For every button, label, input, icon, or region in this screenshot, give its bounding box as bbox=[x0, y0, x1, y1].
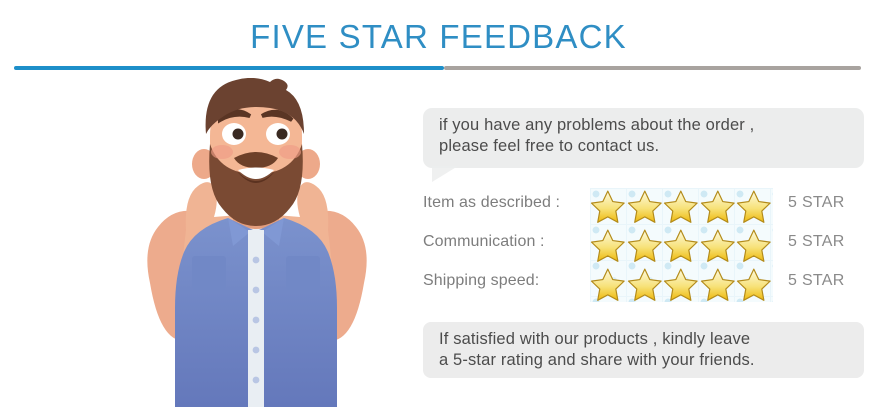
rating-value: 5 STAR bbox=[788, 233, 845, 251]
bubble-line-2: please feel free to contact us. bbox=[439, 136, 864, 157]
star-icon bbox=[736, 227, 772, 262]
ratings-table: Item as described : 5 STAR Communication… bbox=[420, 186, 865, 304]
star-icon bbox=[590, 266, 626, 301]
star-rating-item-as-described bbox=[590, 186, 773, 224]
note-line-2: a 5-star rating and share with your frie… bbox=[439, 350, 864, 371]
note-line-1: If satisfied with our products , kindly … bbox=[439, 329, 864, 350]
star-icon bbox=[663, 266, 699, 301]
star-icon bbox=[590, 227, 626, 262]
pupil-right bbox=[277, 129, 288, 140]
contact-message-bubble: if you have any problems about the order… bbox=[423, 108, 864, 168]
star-icon bbox=[736, 188, 772, 223]
cheek-right bbox=[279, 145, 301, 159]
star-icon bbox=[700, 188, 736, 223]
star-icon bbox=[736, 266, 772, 301]
rating-label: Shipping speed: bbox=[423, 272, 539, 290]
feedback-panel: if you have any problems about the order… bbox=[420, 78, 865, 407]
divider-grey bbox=[444, 66, 861, 70]
star-rating-communication bbox=[590, 225, 773, 263]
thumbs-up-man-illustration bbox=[88, 78, 424, 407]
star-icon bbox=[627, 266, 663, 301]
divider-blue bbox=[14, 66, 444, 70]
rating-label: Item as described : bbox=[423, 194, 560, 212]
rating-value: 5 STAR bbox=[788, 272, 845, 290]
star-icon bbox=[700, 227, 736, 262]
pupil-left bbox=[233, 129, 244, 140]
bubble-tail bbox=[432, 166, 458, 182]
rating-value: 5 STAR bbox=[788, 194, 845, 212]
star-icon bbox=[663, 227, 699, 262]
star-icon bbox=[627, 227, 663, 262]
shirt-pocket-left bbox=[192, 256, 226, 290]
page-title: FIVE STAR FEEDBACK bbox=[0, 18, 877, 56]
feedback-banner: FIVE STAR FEEDBACK bbox=[0, 0, 877, 407]
rating-row-communication: Communication : 5 STAR bbox=[420, 225, 865, 264]
bubble-line-1: if you have any problems about the order… bbox=[439, 115, 864, 136]
shirt-pocket-right bbox=[286, 256, 320, 290]
star-icon bbox=[663, 188, 699, 223]
cheek-left bbox=[211, 145, 233, 159]
rating-request-note: If satisfied with our products , kindly … bbox=[423, 322, 864, 378]
star-icon bbox=[700, 266, 736, 301]
star-icon bbox=[627, 188, 663, 223]
rating-label: Communication : bbox=[423, 233, 545, 251]
rating-row-shipping-speed: Shipping speed: 5 STAR bbox=[420, 264, 865, 303]
star-icon bbox=[590, 188, 626, 223]
star-rating-shipping-speed bbox=[590, 264, 773, 302]
rating-row-item-as-described: Item as described : 5 STAR bbox=[420, 186, 865, 225]
